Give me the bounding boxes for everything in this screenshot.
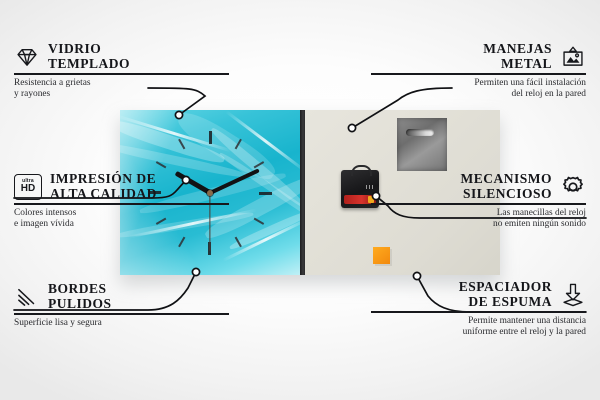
ultra-hd-icon: ultra HD xyxy=(14,174,42,200)
down-arrow-layer-icon xyxy=(560,282,586,308)
feature-spacer-title: ESPACIADORDE ESPUMA xyxy=(459,280,552,309)
feature-glass-desc: Resistencia a grietasy rayones xyxy=(14,75,229,101)
feature-glass-head: VIDRIOTEMPLADO xyxy=(14,42,229,73)
feature-spacer-desc: Permite mantener una distanciauniforme e… xyxy=(371,313,586,339)
picture-hanger-icon xyxy=(560,44,586,70)
diamond-icon xyxy=(14,44,40,70)
feature-edges-title: BORDESPULIDOS xyxy=(48,282,112,311)
gear-icon xyxy=(560,174,586,200)
feature-mechanism-desc: Las manecillas del relojno emiten ningún… xyxy=(371,205,586,231)
feature-mechanism: MECANISMOSILENCIOSO Las manecillas del r… xyxy=(371,172,586,231)
feature-edges-desc: Superficie lisa y segura xyxy=(14,315,229,330)
feature-mechanism-title: MECANISMOSILENCIOSO xyxy=(461,172,553,201)
feature-handles: MANEJASMETAL Permiten una fácil instalac… xyxy=(371,42,586,101)
feature-glass-title: VIDRIOTEMPLADO xyxy=(48,42,130,71)
feature-glass: VIDRIOTEMPLADO Resistencia a grietasy ra… xyxy=(14,42,229,101)
feature-handles-desc: Permiten una fácil instalacióndel reloj … xyxy=(371,75,586,101)
feature-spacer: ESPACIADORDE ESPUMA Permite mantener una… xyxy=(371,280,586,339)
feature-print: ultra HD IMPRESIÓN DEALTA CALIDAD Colore… xyxy=(14,172,229,231)
feature-handles-head: MANEJASMETAL xyxy=(371,42,586,73)
mechanism-loop xyxy=(351,165,372,176)
feature-mechanism-head: MECANISMOSILENCIOSO xyxy=(371,172,586,203)
feature-spacer-head: ESPACIADORDE ESPUMA xyxy=(371,280,586,311)
feature-print-desc: Colores intensose imagen vívida xyxy=(14,205,229,231)
metal-hanger-part xyxy=(397,118,447,171)
hanger-slot xyxy=(406,129,434,136)
feature-edges-head: BORDESPULIDOS xyxy=(14,282,229,313)
feature-edges: BORDESPULIDOS Superficie lisa y segura xyxy=(14,282,229,329)
infographic-stage: VIDRIOTEMPLADO Resistencia a grietasy ra… xyxy=(0,0,600,400)
feature-handles-title: MANEJASMETAL xyxy=(483,42,552,71)
feature-print-head: ultra HD IMPRESIÓN DEALTA CALIDAD xyxy=(14,172,229,203)
feature-print-title: IMPRESIÓN DEALTA CALIDAD xyxy=(50,172,157,201)
polished-edges-icon xyxy=(14,284,40,310)
foam-spacer-part xyxy=(373,247,390,264)
